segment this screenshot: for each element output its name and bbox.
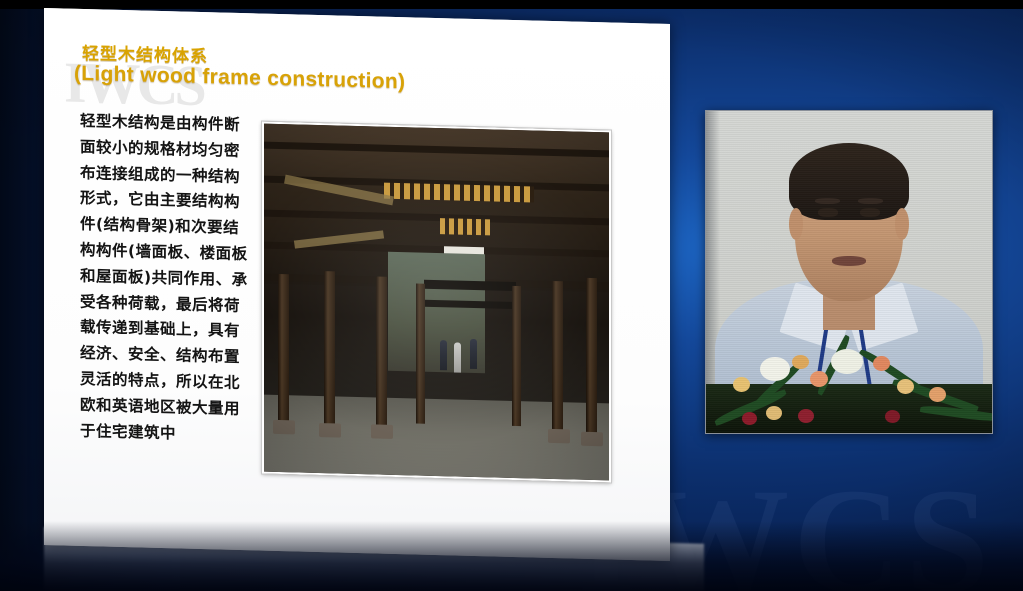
- speaker-video-panel[interactable]: [705, 110, 993, 434]
- conference-playback-stage: IWCS IWCS 轻型木结构体系 (Light wood frame cons…: [0, 0, 1023, 591]
- slide-photo-timber-frame-hall[interactable]: [262, 122, 611, 483]
- top-black-bar: [0, 0, 1023, 9]
- slide-body-text: 轻型木结构是由构件断面较小的规格材均匀密布连接组成的一种结构形式，它由主要结构构…: [80, 109, 248, 449]
- video-scanline-overlay: [706, 111, 992, 433]
- presentation-slide[interactable]: IWCS 轻型木结构体系 (Light wood frame construct…: [44, 8, 670, 561]
- slide-surface: IWCS 轻型木结构体系 (Light wood frame construct…: [44, 8, 670, 561]
- bottom-shadow: [0, 521, 1023, 591]
- photo-vignette: [264, 124, 609, 481]
